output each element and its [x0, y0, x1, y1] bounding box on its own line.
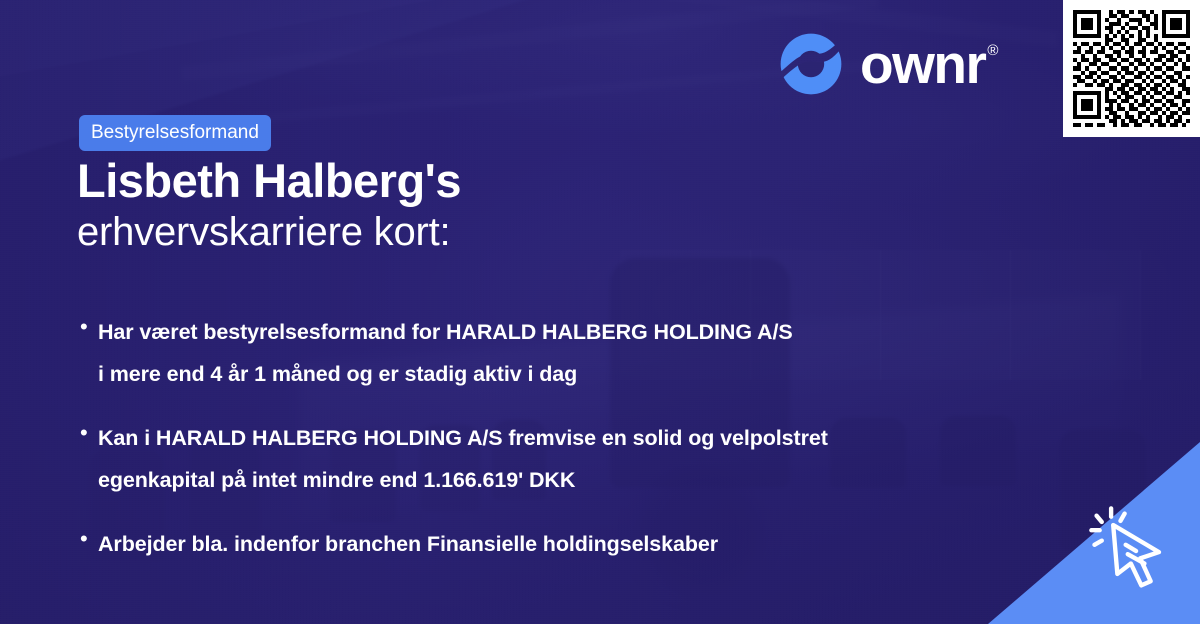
bullet-dot-icon: •	[80, 524, 98, 554]
page-subtitle: erhvervskarriere kort:	[77, 209, 450, 255]
page-title: Lisbeth Halberg's	[77, 156, 461, 207]
list-item-text: Arbejder bla. indenfor branchen Finansie…	[98, 524, 718, 566]
click-cursor-icon	[1082, 498, 1186, 602]
list-item-text: Kan i HARALD HALBERG HOLDING A/S fremvis…	[98, 418, 828, 502]
qr-code-panel[interactable]	[1063, 0, 1200, 137]
bullet-dot-icon: •	[80, 312, 98, 342]
ownr-circle-swirl-logo	[778, 31, 844, 97]
list-item-line: Har været bestyrelsesformand for HARALD …	[98, 320, 793, 344]
registered-trademark-symbol: ®	[987, 43, 998, 58]
ownr-wordmark: ownr ®	[860, 37, 998, 92]
ownr-wordmark-text: ownr	[860, 37, 985, 92]
role-badge: Bestyrelsesformand	[79, 115, 271, 151]
list-item-line: Arbejder bla. indenfor branchen Finansie…	[98, 532, 718, 556]
career-card: ownr ® Bestyrelsesformand Lisbeth Halber…	[0, 0, 1200, 624]
list-item-line: Kan i HARALD HALBERG HOLDING A/S fremvis…	[98, 426, 828, 450]
career-facts-list: •Har været bestyrelsesformand for HARALD…	[80, 312, 1040, 588]
bullet-dot-icon: •	[80, 418, 98, 448]
ownr-logo[interactable]: ownr ®	[778, 31, 998, 97]
qr-code	[1073, 10, 1190, 127]
list-item-text: Har været bestyrelsesformand for HARALD …	[98, 312, 793, 396]
list-item: •Kan i HARALD HALBERG HOLDING A/S fremvi…	[80, 418, 1040, 502]
list-item-line: i mere end 4 år 1 måned og er stadig akt…	[98, 354, 793, 396]
list-item: •Arbejder bla. indenfor branchen Finansi…	[80, 524, 1040, 566]
list-item-line: egenkapital på intet mindre end 1.166.61…	[98, 460, 828, 502]
list-item: •Har været bestyrelsesformand for HARALD…	[80, 312, 1040, 396]
